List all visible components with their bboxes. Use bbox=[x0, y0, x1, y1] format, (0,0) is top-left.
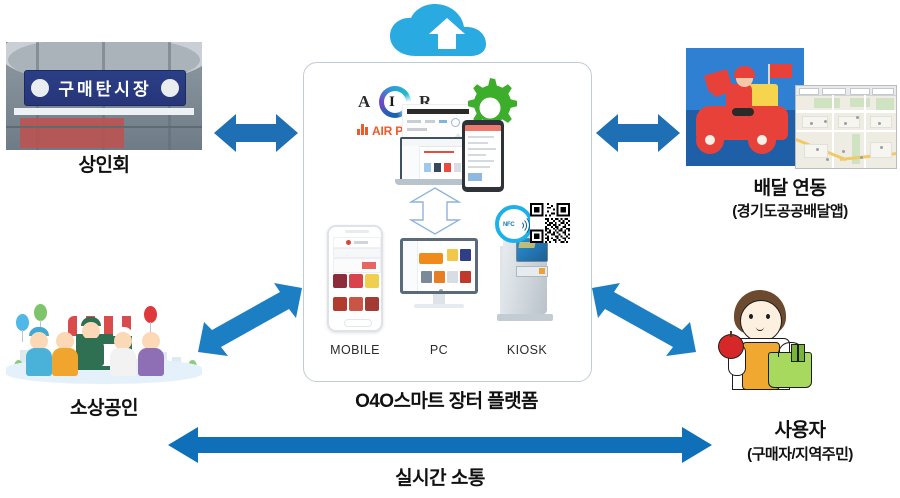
arrow-layer bbox=[0, 0, 900, 498]
arrow-realtime-communication bbox=[168, 427, 712, 463]
diagram-canvas: A I R AIR Platform bbox=[0, 0, 900, 498]
arrow-merchants-to-center bbox=[214, 114, 298, 152]
realtime-communication-label: 실시간 소통 bbox=[300, 468, 580, 490]
arrow-center-to-users bbox=[592, 283, 696, 356]
arrow-center-to-delivery bbox=[596, 114, 680, 152]
arrow-smallbiz-to-center bbox=[198, 283, 302, 356]
